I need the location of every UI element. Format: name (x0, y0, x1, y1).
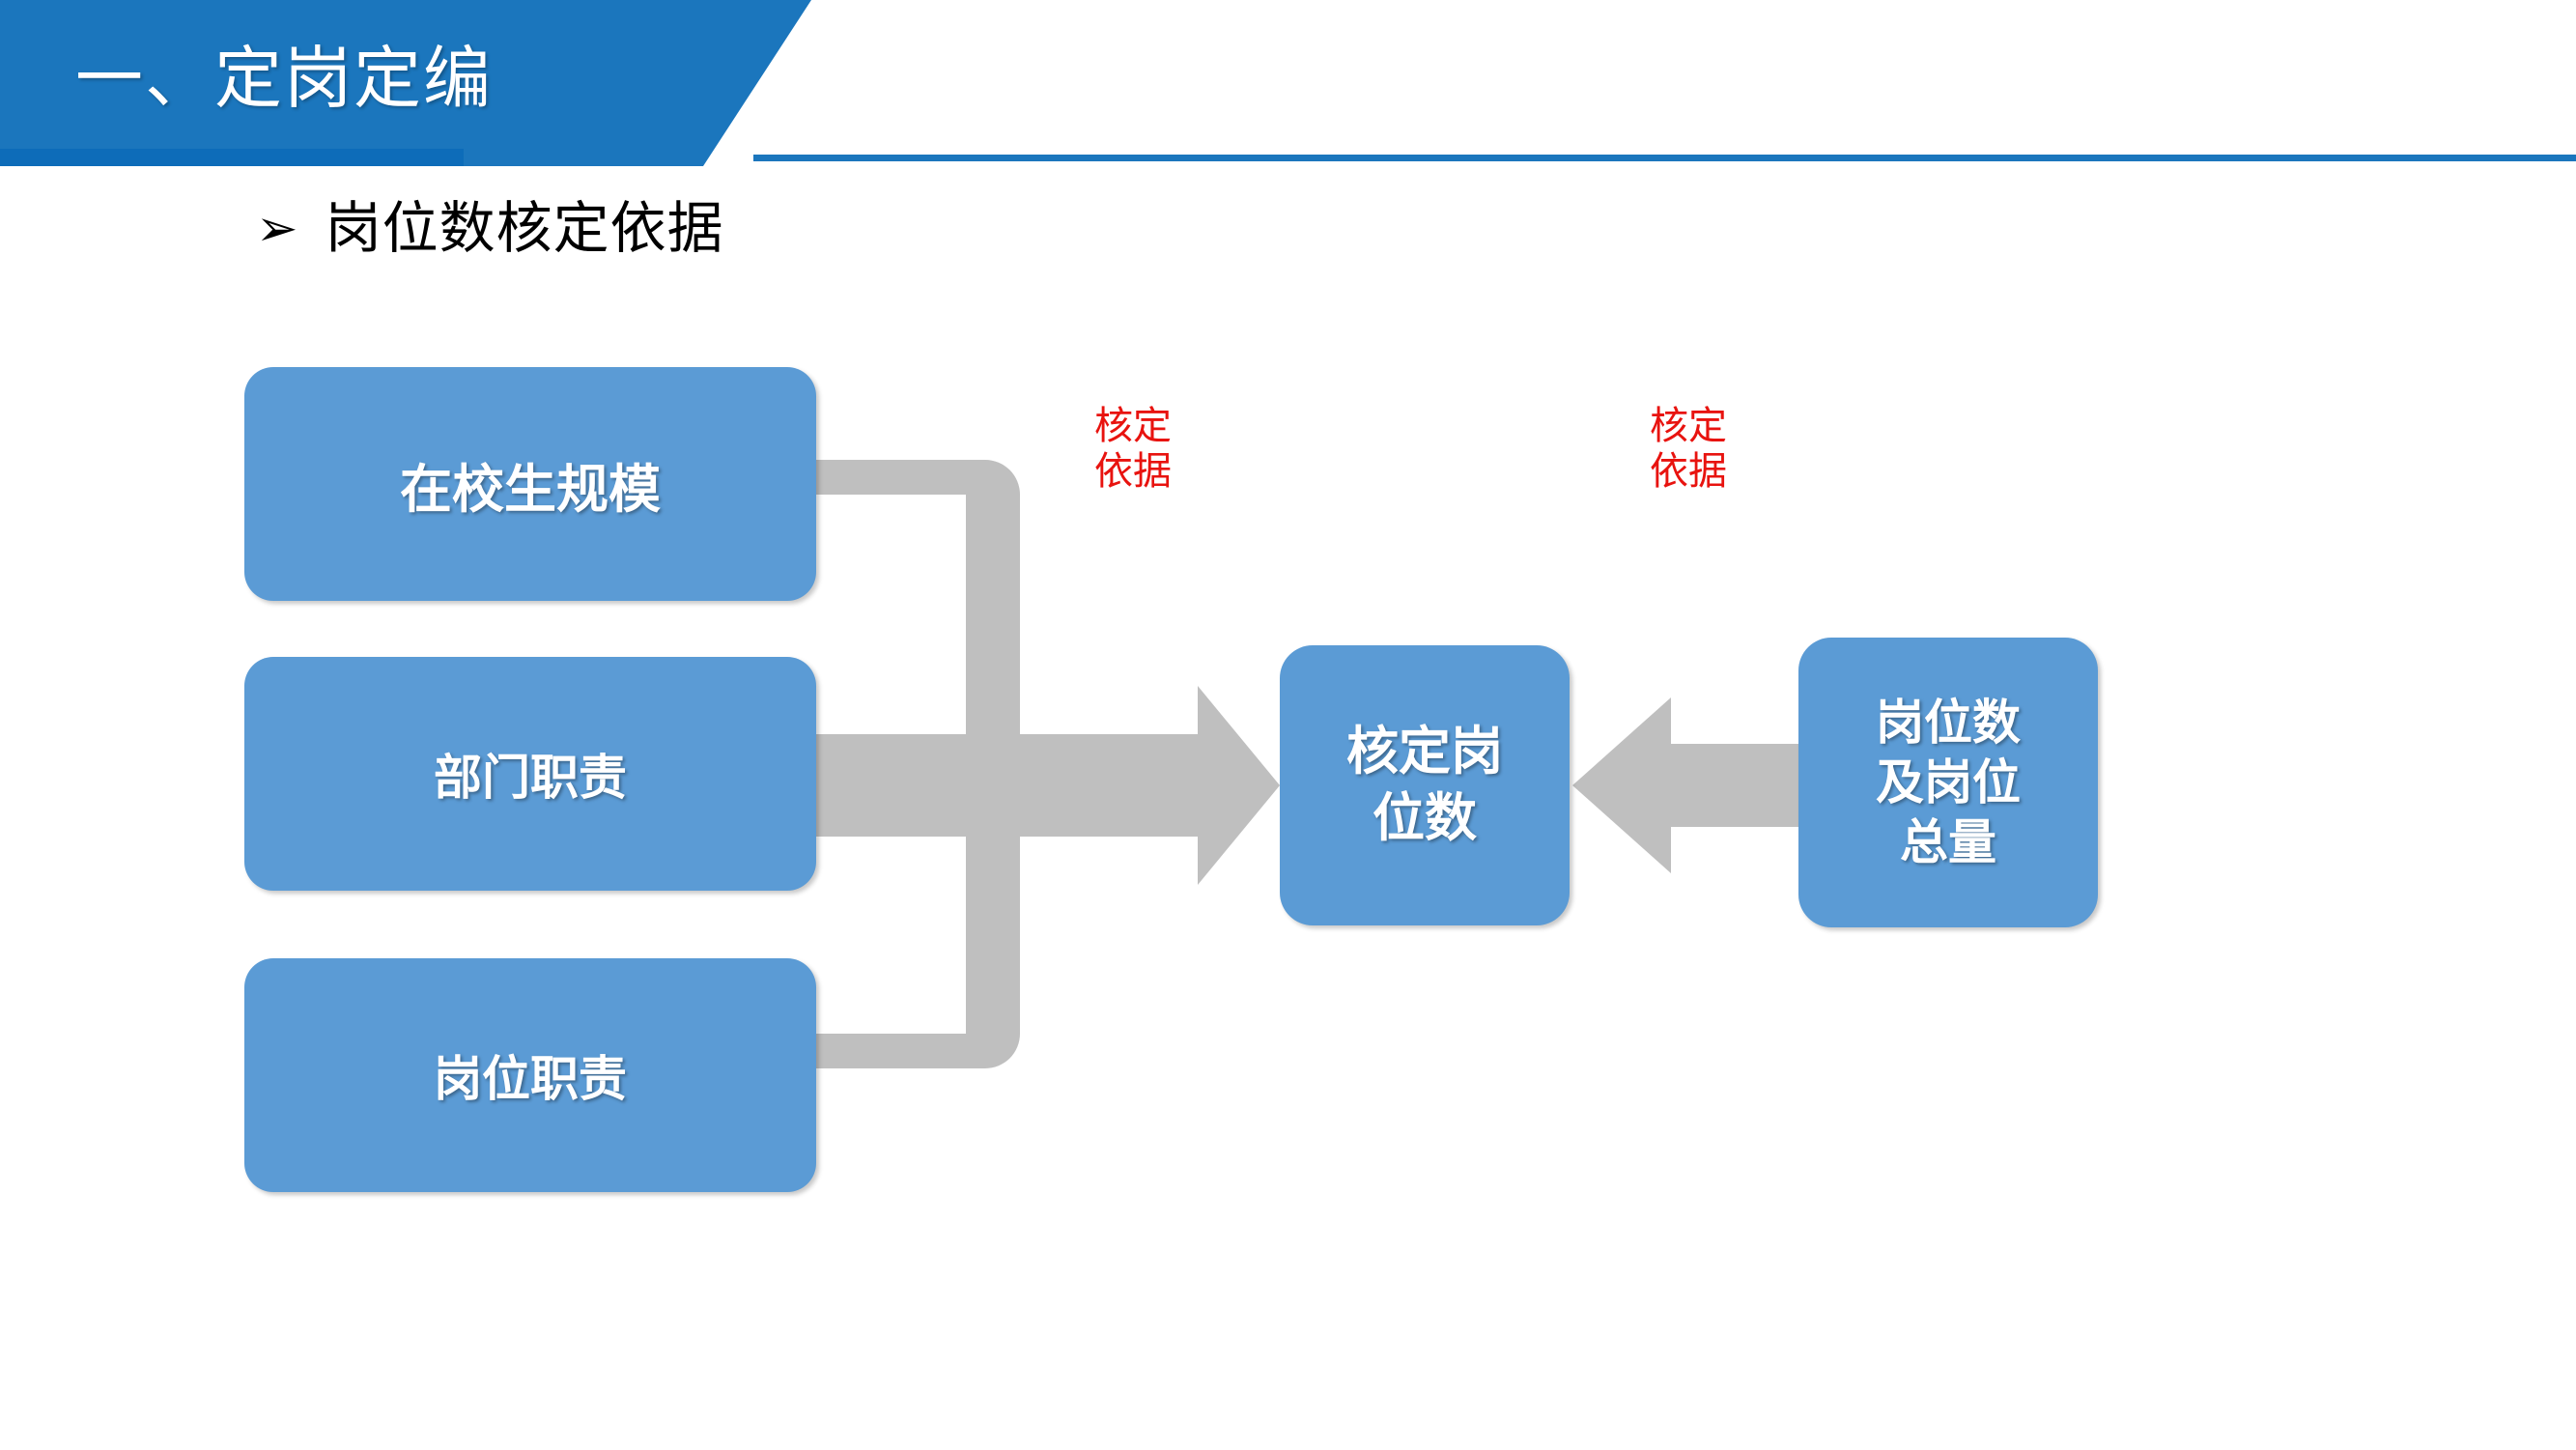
node-position-duties-label: 岗位职责 (434, 1040, 627, 1110)
edge-label-left-basis: 核定 依据 (1070, 404, 1196, 495)
node-enrollment-scale-label: 在校生规模 (400, 446, 661, 523)
arrow-bullet-icon: ➢ (256, 204, 298, 254)
node-department-duties-label: 部门职责 (434, 739, 627, 809)
node-position-count-and-total-line3: 总量 (1876, 812, 2021, 872)
node-approved-position-count-line1: 核定岗 (1346, 719, 1503, 785)
node-enrollment-scale[interactable]: 在校生规模 (244, 367, 816, 601)
connector-post-duty-to-center (816, 802, 1020, 1068)
flow-diagram: 在校生规模 部门职责 岗位职责 核定岗 位数 岗位数 及岗位 总量 核定 依据 … (0, 319, 2576, 1343)
node-approved-position-count[interactable]: 核定岗 位数 (1280, 645, 1570, 925)
edge-label-right-basis: 核定 依据 (1626, 404, 1751, 495)
banner-accent-bar (0, 149, 464, 166)
title-banner: 一、定岗定编 (0, 0, 811, 166)
section-heading-label: 岗位数核定依据 (326, 201, 724, 257)
node-department-duties[interactable]: 部门职责 (244, 657, 816, 891)
node-position-count-and-total-line1: 岗位数 (1876, 693, 2021, 753)
connector-trunk-arrow-to-center (816, 686, 1280, 885)
node-position-count-and-total-line2: 及岗位 (1876, 753, 2021, 812)
node-position-count-and-total[interactable]: 岗位数 及岗位 总量 (1798, 638, 2098, 927)
section-heading: ➢ 岗位数核定依据 (256, 201, 724, 257)
node-approved-position-count-line2: 位数 (1346, 785, 1503, 852)
header-divider-rule (753, 155, 2576, 161)
page-title: 一、定岗定编 (75, 21, 694, 124)
node-position-duties[interactable]: 岗位职责 (244, 958, 816, 1192)
connector-enrollment-to-center (816, 460, 1020, 734)
connector-total-to-center-arrow (1572, 697, 1798, 873)
